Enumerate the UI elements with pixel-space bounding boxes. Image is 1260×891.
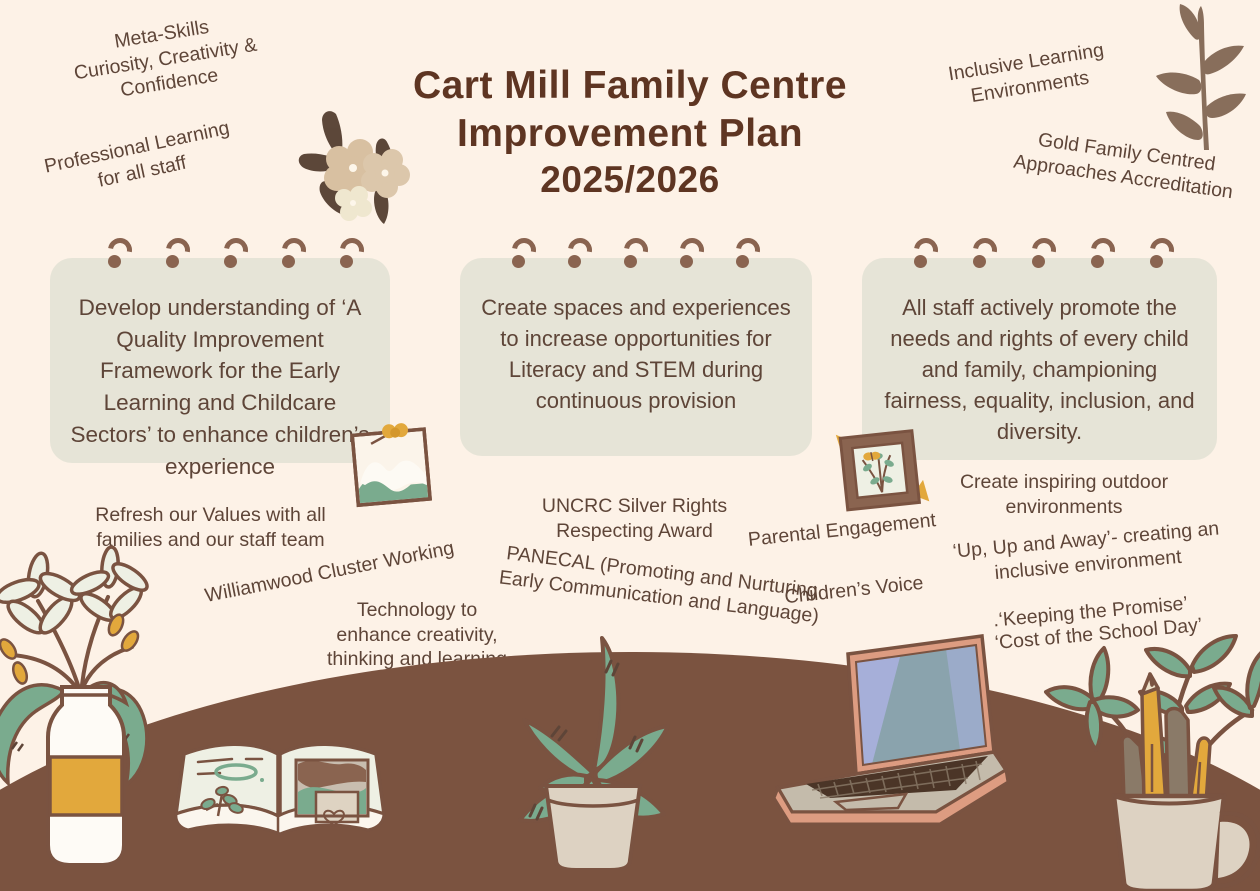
spiral-binding xyxy=(50,238,390,284)
open-book-icon xyxy=(170,730,390,845)
label-professional-learning: Professional Learning for all staff xyxy=(34,114,245,205)
spiral-binding xyxy=(460,238,812,284)
title-line-1: Cart Mill Family Centre xyxy=(330,62,930,110)
pencil-mug-icon xyxy=(1040,548,1260,891)
potted-plant-icon xyxy=(490,630,700,870)
improvement-plan-poster: Develop understanding of ‘A Quality Impr… xyxy=(0,0,1260,891)
leafy-branch-icon xyxy=(1138,2,1260,152)
pinned-photo-icon xyxy=(343,418,443,513)
bottle-vase-icon xyxy=(0,545,190,875)
spiral-binding xyxy=(862,238,1217,284)
laptop-icon xyxy=(760,632,1010,832)
page-title: Cart Mill Family Centre Improvement Plan… xyxy=(330,62,930,202)
priority-card-literacy-stem: Create spaces and experiences to increas… xyxy=(460,258,812,456)
label-outdoor-environments: Create inspiring outdoor environments xyxy=(950,470,1178,519)
priority-card-quality-improvement: Develop understanding of ‘A Quality Impr… xyxy=(50,258,390,463)
title-line-2: Improvement Plan xyxy=(330,110,930,158)
label-uncrc-silver-award: UNCRC Silver Rights Respecting Award xyxy=(527,494,742,543)
botanical-frame-icon xyxy=(830,422,936,522)
label-meta-skills: Meta-Skills Curiosity, Creativity & Conf… xyxy=(54,6,278,112)
label-inclusive-learning: Inclusive Learning Environments xyxy=(935,36,1120,113)
title-line-3: 2025/2026 xyxy=(330,157,930,202)
priority-card-text: Develop understanding of ‘A Quality Impr… xyxy=(70,292,370,482)
priority-card-text: Create spaces and experiences to increas… xyxy=(480,292,792,416)
